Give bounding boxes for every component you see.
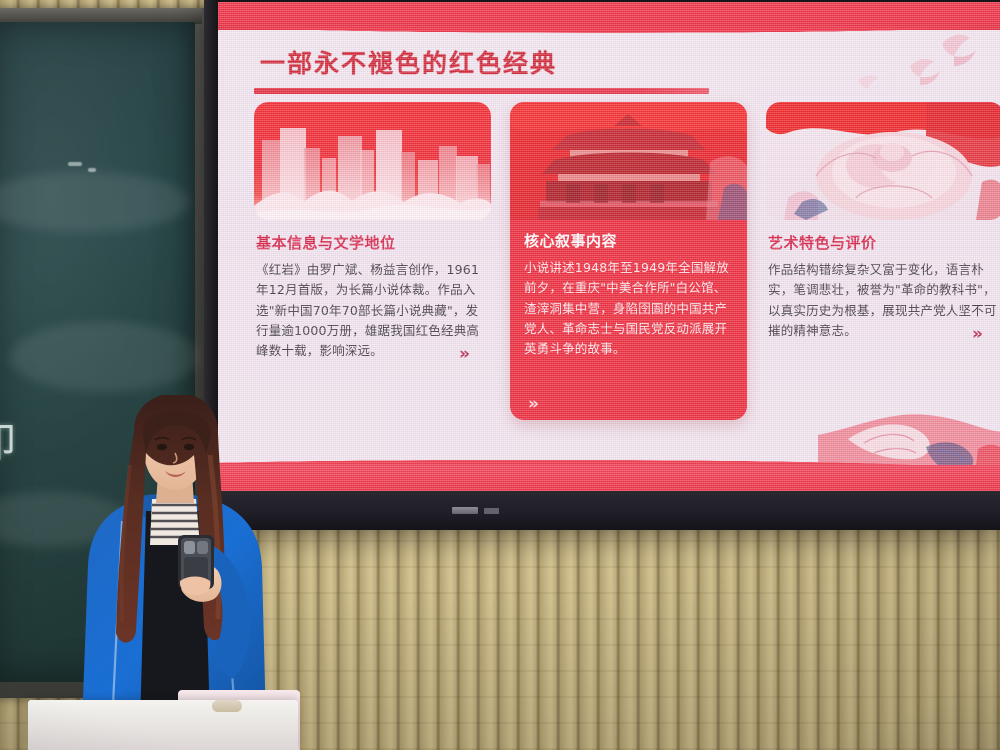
- chalk-writing: 印: [0, 410, 18, 468]
- card-text: 《红岩》由罗广斌、杨益言创作，1961年12月首版，为长篇小说体裁。作品入选"新…: [256, 260, 489, 361]
- classroom-scene: 印 一部永不褪色的红色经典: [0, 0, 1000, 750]
- card-text: 小说讲述1948年至1949年全国解放前夕，在重庆"中美合作所"白公馆、渣滓洞集…: [524, 258, 733, 359]
- lectern: [28, 700, 298, 750]
- card-title: 基本信息与文学地位: [256, 232, 489, 253]
- card-basic-info[interactable]: 基本信息与文学地位 《红岩》由罗广斌、杨益言创作，1961年12月首版，为长篇小…: [254, 102, 491, 361]
- card-title: 核心叙事内容: [524, 230, 733, 251]
- card-text: 作品结构错综复杂又富于变化，语言朴实，笔调悲壮，被誉为"革命的教科书"，以真实历…: [768, 260, 1000, 341]
- tiananmen-gate-icon: [510, 102, 747, 220]
- slide-title: 一部永不褪色的红色经典: [260, 44, 557, 80]
- dove-icon: [850, 28, 990, 98]
- display-brand-mark: [484, 508, 499, 514]
- card-core-narrative[interactable]: 核心叙事内容 小说讲述1948年至1949年全国解放前夕，在重庆"中美合作所"白…: [510, 102, 747, 420]
- chevron-right-icon[interactable]: »: [972, 324, 983, 341]
- card-row: 基本信息与文学地位 《红岩》由罗广斌、杨益言创作，1961年12月首版，为长篇小…: [218, 102, 1000, 432]
- lectern-knob: [212, 700, 242, 712]
- title-underline: [254, 88, 709, 94]
- card-artistic-features[interactable]: 艺术特色与评价 作品结构错综复杂又富于变化，语言朴实，笔调悲壮，被誉为"革命的教…: [766, 102, 1000, 341]
- card-title: 艺术特色与评价: [768, 232, 1000, 253]
- display-bottom-bezel: [204, 490, 1000, 530]
- chevron-right-icon[interactable]: »: [459, 344, 470, 361]
- chevron-right-icon[interactable]: »: [528, 394, 539, 414]
- presentation-slide: 一部永不褪色的红色经典: [218, 2, 1000, 491]
- peony-flower-icon: [766, 102, 1000, 220]
- city-skyline-icon: [254, 102, 491, 220]
- slide-bottom-band: [218, 465, 1000, 491]
- display-brand-logo: [452, 507, 478, 514]
